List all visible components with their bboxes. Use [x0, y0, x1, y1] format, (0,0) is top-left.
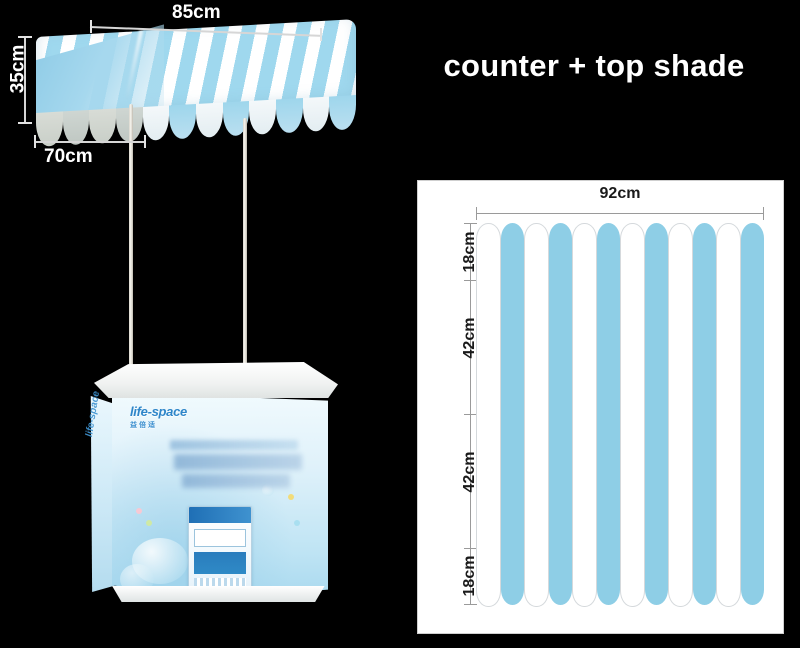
dimension-ruler-vertical: 18cm 42cm 42cm 18cm — [461, 223, 477, 605]
product-photo: life-space 益倍适 life-space 85cm — [0, 0, 400, 648]
fabric-spec-panel: 92cm 18cm 42cm 42cm 18cm — [417, 180, 784, 634]
fabric-stripe — [597, 223, 620, 605]
dimension-cap — [320, 28, 322, 41]
fabric-stripe — [693, 223, 716, 605]
counter-unit: life-space 益倍适 life-space — [84, 362, 346, 612]
brand-logo-cn: 益倍适 — [130, 420, 187, 430]
fabric-stripe — [501, 223, 524, 605]
graphic-dot — [288, 494, 294, 500]
headline-blurred — [182, 474, 290, 488]
valance-scallop — [89, 108, 116, 143]
screenshot-stage: counter + top shade — [0, 0, 800, 648]
dimension-cap — [18, 122, 32, 124]
graphic-dot — [294, 520, 300, 526]
valance-scallop — [276, 98, 303, 133]
counter-base-trim — [98, 586, 334, 602]
fabric-stripe — [476, 223, 501, 607]
brand-logo-text: life-space — [130, 404, 187, 419]
fabric-stripe — [668, 223, 693, 607]
valance-scallop — [329, 95, 356, 130]
valance-scallop — [196, 103, 223, 138]
counter-front-graphic: life-space 益倍适 — [112, 388, 328, 598]
dimension-cap — [90, 20, 92, 33]
page-title: counter + top shade — [398, 48, 790, 84]
fabric-stripe — [716, 223, 741, 607]
fabric-stripe — [620, 223, 645, 607]
dimension-label-canopy-depth: 70cm — [44, 146, 93, 168]
fabric-stripe — [645, 223, 668, 605]
canopy-pole-left — [129, 104, 133, 384]
dimension-line-fabric-width — [476, 207, 764, 221]
dimension-line-70 — [34, 141, 146, 143]
headline-blurred — [174, 454, 302, 470]
package-label-box — [194, 529, 246, 547]
valance-scallop — [303, 97, 330, 132]
fabric-spec-inner: 92cm 18cm 42cm 42cm 18cm — [418, 181, 783, 633]
dimension-cap — [34, 135, 36, 148]
package-info-panel — [194, 552, 246, 574]
dimension-label-canopy-width: 85cm — [172, 2, 221, 24]
valance-scallop — [249, 100, 276, 135]
graphic-dot — [136, 508, 142, 514]
fabric-stripe — [524, 223, 549, 607]
dimension-label-canopy-height: 35cm — [7, 45, 29, 94]
dimension-cap — [144, 135, 146, 148]
canopy — [36, 28, 356, 148]
dimension-line — [476, 213, 764, 214]
counter-top-surface — [94, 362, 338, 398]
package-header-band — [189, 507, 251, 523]
valance-scallop — [169, 104, 196, 139]
dimension-cap — [18, 36, 32, 38]
canopy-pole-right — [243, 118, 247, 386]
fabric-stripe — [549, 223, 572, 605]
brand-logo-front: life-space 益倍适 — [130, 404, 187, 430]
fabric-stripe — [741, 223, 764, 605]
fabric-stripe-group — [476, 223, 764, 605]
dimension-cap — [763, 207, 764, 220]
graphic-dot — [146, 520, 152, 526]
product-package-graphic — [188, 506, 252, 592]
valance-scallop — [143, 105, 170, 140]
dimension-label-fabric-width: 92cm — [476, 185, 764, 203]
headline-blurred — [170, 440, 298, 450]
fabric-stripe — [572, 223, 597, 607]
